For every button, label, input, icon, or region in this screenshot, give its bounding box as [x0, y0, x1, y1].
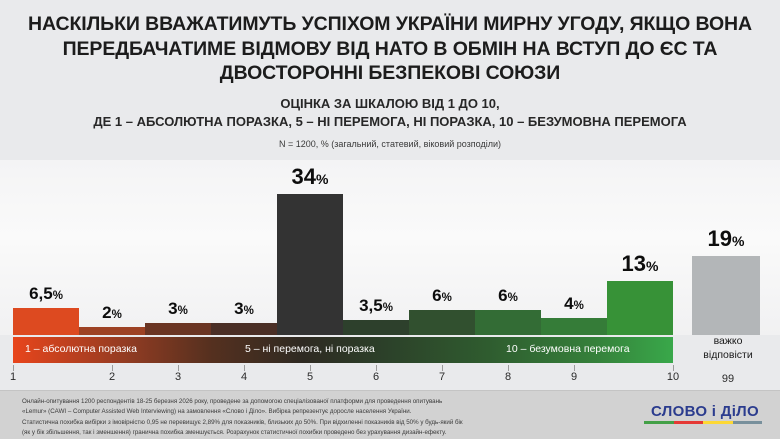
- percent-sign: %: [53, 290, 63, 302]
- footer: Онлайн-опитування 1200 респондентів 18-2…: [0, 390, 780, 439]
- bar-7: [409, 310, 475, 335]
- x-axis: 12345678910 99: [0, 365, 780, 387]
- percent-sign: %: [244, 305, 254, 317]
- bar-99: [692, 256, 760, 335]
- axis-tick-label-10: 10: [661, 371, 685, 383]
- bars-container: 6,5%2%3%3%34%3,5%6%6%4%13%19%: [0, 160, 780, 335]
- percent-sign: %: [178, 305, 188, 317]
- bar-value-number: 2: [102, 303, 111, 322]
- bar-value-number: 3: [168, 299, 177, 318]
- bar-value-number: 6,5: [29, 284, 53, 303]
- bar-3: [145, 323, 211, 335]
- page-title: НАСКІЛЬКИ ВВАЖАТИМУТЬ УСПІХОМ УКРАЇНИ МИ…: [0, 12, 780, 86]
- scale-label-left: 1 – абсолютна поразка: [25, 343, 137, 355]
- slovo-i-dilo-logo[interactable]: СЛОВО і ДіЛО: [644, 404, 766, 424]
- bar-value-number: 6: [498, 286, 507, 305]
- logo-bar-3: [733, 421, 763, 424]
- axis-label-99: 99: [683, 373, 773, 385]
- percent-sign: %: [112, 309, 122, 321]
- bar-value-number: 34: [292, 164, 316, 189]
- bar-2: [79, 327, 145, 335]
- bar-1: [13, 308, 79, 335]
- logo-bar-0: [644, 421, 674, 424]
- percent-sign: %: [732, 233, 744, 249]
- bar-value-label-8: 6%: [475, 287, 541, 305]
- methodology-line-4: (як у бік збільшення, так і зменшення) г…: [22, 428, 602, 438]
- chart-plot-area: 6,5%2%3%3%34%3,5%6%6%4%13%19%: [0, 160, 780, 335]
- axis-tick-label-6: 6: [364, 371, 388, 383]
- scale-legend: 1 – абсолютна поразка 5 – ні перемога, н…: [0, 335, 780, 365]
- hard-to-answer-line-2: відповісти: [683, 349, 773, 363]
- logo-bar-2: [703, 421, 733, 424]
- bar-10: [607, 281, 673, 335]
- bar-value-label-1: 6,5%: [13, 285, 79, 303]
- bar-value-label-6: 3,5%: [343, 297, 409, 315]
- bar-value-number: 6: [432, 286, 441, 305]
- bar-value-number: 3: [234, 299, 243, 318]
- hard-to-answer-line-1: важко: [683, 335, 773, 349]
- bar-value-label-7: 6%: [409, 287, 475, 305]
- bar-value-label-3: 3%: [145, 300, 211, 318]
- bar-value-label-5: 34%: [277, 166, 343, 188]
- axis-tick-label-3: 3: [166, 371, 190, 383]
- percent-sign: %: [508, 292, 518, 304]
- methodology-line-3: Статистична похибка вибірки з імовірніст…: [22, 418, 602, 428]
- bar-value-number: 4: [564, 294, 573, 313]
- percent-sign: %: [316, 171, 328, 187]
- axis-tick-label-2: 2: [100, 371, 124, 383]
- sample-size-note: N = 1200, % (загальний, статевий, вікови…: [0, 139, 780, 149]
- subtitle-line-2: ДЕ 1 – АБСОЛЮТНА ПОРАЗКА, 5 – НІ ПЕРЕМОГ…: [12, 113, 768, 131]
- hard-to-answer-label: важко відповісти: [683, 335, 773, 363]
- bar-value-label-99: 19%: [692, 228, 760, 250]
- subtitle-line-1: ОЦІНКА ЗА ШКАЛОЮ ВІД 1 ДО 10,: [12, 95, 768, 113]
- percent-sign: %: [574, 300, 584, 312]
- methodology-line-1: Онлайн-опитування 1200 респондентів 18-2…: [22, 397, 602, 407]
- logo-bar-1: [674, 421, 704, 424]
- methodology-line-2: «Lemur» (CAWI – Computer Assisted Web In…: [22, 407, 602, 417]
- axis-tick-label-1: 1: [1, 371, 25, 383]
- scale-label-mid: 5 – ні перемога, ні поразка: [245, 343, 375, 355]
- bar-value-number: 3,5: [359, 296, 383, 315]
- percent-sign: %: [383, 302, 393, 314]
- scale-label-right: 10 – безумовна перемога: [506, 343, 630, 355]
- bar-value-number: 13: [622, 251, 646, 276]
- percent-sign: %: [442, 292, 452, 304]
- bar-9: [541, 318, 607, 335]
- header: НАСКІЛЬКИ ВВАЖАТИМУТЬ УСПІХОМ УКРАЇНИ МИ…: [0, 0, 780, 149]
- bar-value-label-10: 13%: [607, 253, 673, 275]
- logo-text: СЛОВО і ДіЛО: [644, 404, 766, 419]
- axis-tick-label-5: 5: [298, 371, 322, 383]
- bar-value-label-2: 2%: [79, 304, 145, 322]
- logo-color-bars: [644, 421, 762, 424]
- page-subtitle: ОЦІНКА ЗА ШКАЛОЮ ВІД 1 ДО 10, ДЕ 1 – АБС…: [0, 95, 780, 132]
- bar-5: [277, 194, 343, 335]
- percent-sign: %: [646, 258, 658, 274]
- bar-value-label-4: 3%: [211, 300, 277, 318]
- bar-4: [211, 323, 277, 335]
- axis-tick-label-4: 4: [232, 371, 256, 383]
- axis-tick-label-9: 9: [562, 371, 586, 383]
- bar-8: [475, 310, 541, 335]
- bar-value-label-9: 4%: [541, 295, 607, 313]
- axis-tick-label-8: 8: [496, 371, 520, 383]
- bar-6: [343, 320, 409, 335]
- axis-tick-label-7: 7: [430, 371, 454, 383]
- scale-gradient-bar: 1 – абсолютна поразка 5 – ні перемога, н…: [13, 337, 673, 363]
- methodology-note: Онлайн-опитування 1200 респондентів 18-2…: [22, 397, 602, 439]
- bar-value-number: 19: [708, 226, 732, 251]
